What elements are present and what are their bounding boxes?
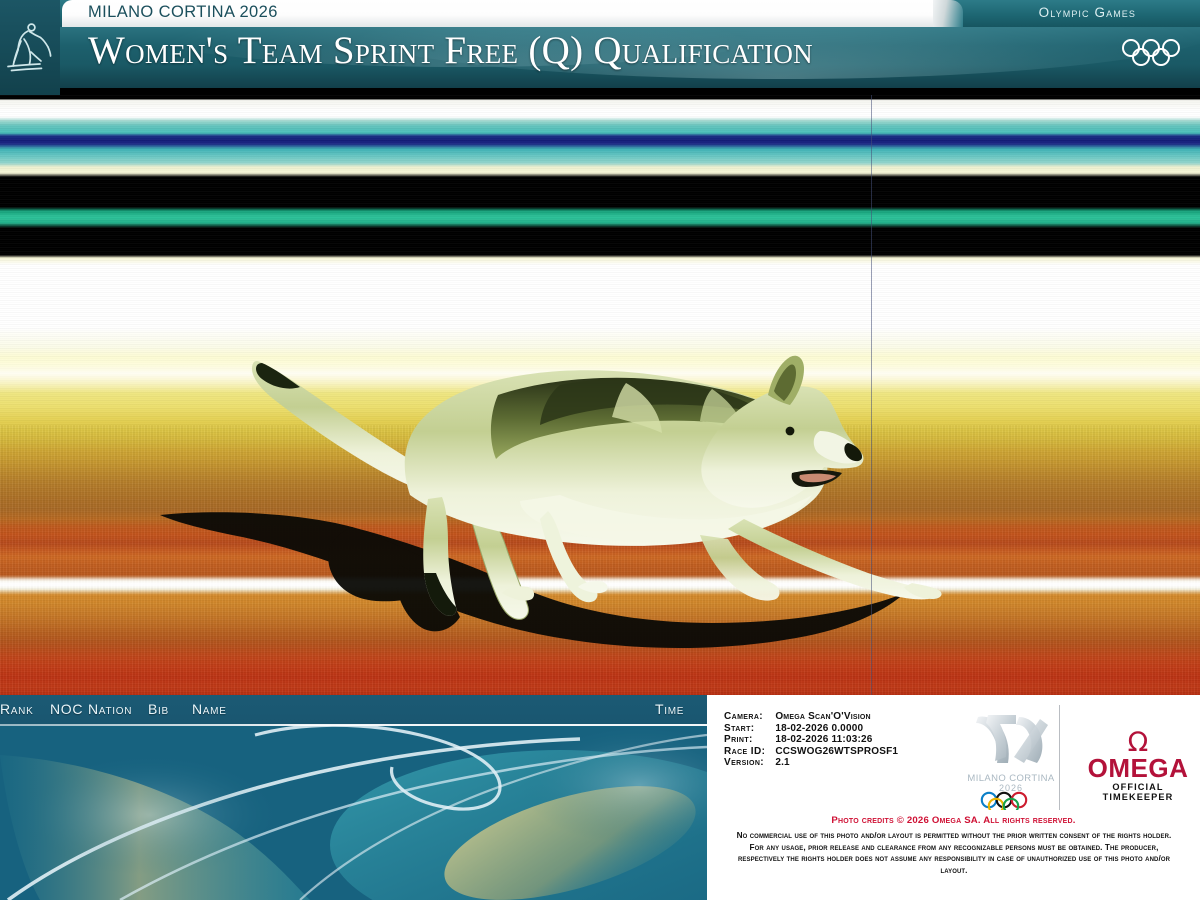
meta-value-version: 2.1 <box>775 757 898 769</box>
column-header-noc[interactable]: NOC <box>50 701 83 717</box>
running-wolf-subject <box>0 95 1200 695</box>
meta-row-print: Print: 18-02-2026 11:03:26 <box>724 734 898 746</box>
photofinish-page: MILANO CORTINA 2026 Olympic Games Women'… <box>0 0 1200 900</box>
header-bottom-rule <box>0 88 1200 95</box>
omega-wordmark: OMEGA <box>1083 755 1193 781</box>
column-header-name[interactable]: Name <box>192 701 227 717</box>
meta-value-race-id: CCSWOG26WTSPROSF1 <box>775 746 898 758</box>
meta-row-camera: Camera: Omega Scan'O'Vision <box>724 711 898 723</box>
milano-logo-year: 2026 <box>999 783 1023 793</box>
olympic-rings-icon <box>1120 38 1182 68</box>
meta-key-print: Print: <box>724 734 775 746</box>
page-title: Women's Team Sprint Free (Q) Qualificati… <box>88 31 813 70</box>
cross-country-skiing-icon <box>5 20 57 76</box>
results-panel: Rank NOC Nation Bib Name Time <box>0 695 707 900</box>
page-header: MILANO CORTINA 2026 Olympic Games Women'… <box>0 0 1200 95</box>
meta-key-start: Start: <box>724 723 775 735</box>
olympic-games-label: Olympic Games <box>1039 5 1136 20</box>
event-series-label: MILANO CORTINA 2026 <box>88 3 278 22</box>
meta-key-camera: Camera: <box>724 711 775 723</box>
meta-row-version: Version: 2.1 <box>724 757 898 769</box>
olympic-rings-icon <box>982 793 1026 810</box>
column-header-time[interactable]: Time <box>655 701 684 717</box>
info-panel-divider <box>1059 705 1060 810</box>
results-header-underline <box>0 724 707 726</box>
info-panel: Camera: Omega Scan'O'Vision Start: 18-02… <box>707 695 1200 900</box>
photo-credit-line: Photo credits © 2026 Omega SA. All right… <box>707 815 1200 826</box>
finish-line-marker <box>871 95 872 695</box>
column-header-rank[interactable]: Rank <box>0 701 33 717</box>
meta-key-version: Version: <box>724 757 775 769</box>
legal-notice-text: No commercial use of this photo and/or l… <box>729 830 1179 876</box>
column-header-nation[interactable]: Nation <box>88 701 132 717</box>
sport-icon-box <box>0 0 60 95</box>
omega-symbol-icon: Ω <box>1083 730 1193 755</box>
milano-cortina-mark <box>976 715 1048 763</box>
meta-value-print: 18-02-2026 11:03:26 <box>775 734 898 746</box>
meta-row-start: Start: 18-02-2026 0.0000 <box>724 723 898 735</box>
meta-row-race-id: Race ID: CCSWOG26WTSPROSF1 <box>724 746 898 758</box>
photofinish-image <box>0 95 1200 695</box>
milano-cortina-2026-logo: MILANO CORTINA 2026 <box>964 705 1059 810</box>
meta-key-race-id: Race ID: <box>724 746 775 758</box>
meta-value-camera: Omega Scan'O'Vision <box>775 711 898 723</box>
omega-logo: Ω OMEGA OFFICIAL TIMEKEEPER <box>1083 730 1193 792</box>
omega-tagline: OFFICIAL TIMEKEEPER <box>1083 782 1193 802</box>
camera-metadata: Camera: Omega Scan'O'Vision Start: 18-02… <box>724 711 898 769</box>
meta-value-start: 18-02-2026 0.0000 <box>775 723 898 735</box>
column-header-bib[interactable]: Bib <box>148 701 169 717</box>
